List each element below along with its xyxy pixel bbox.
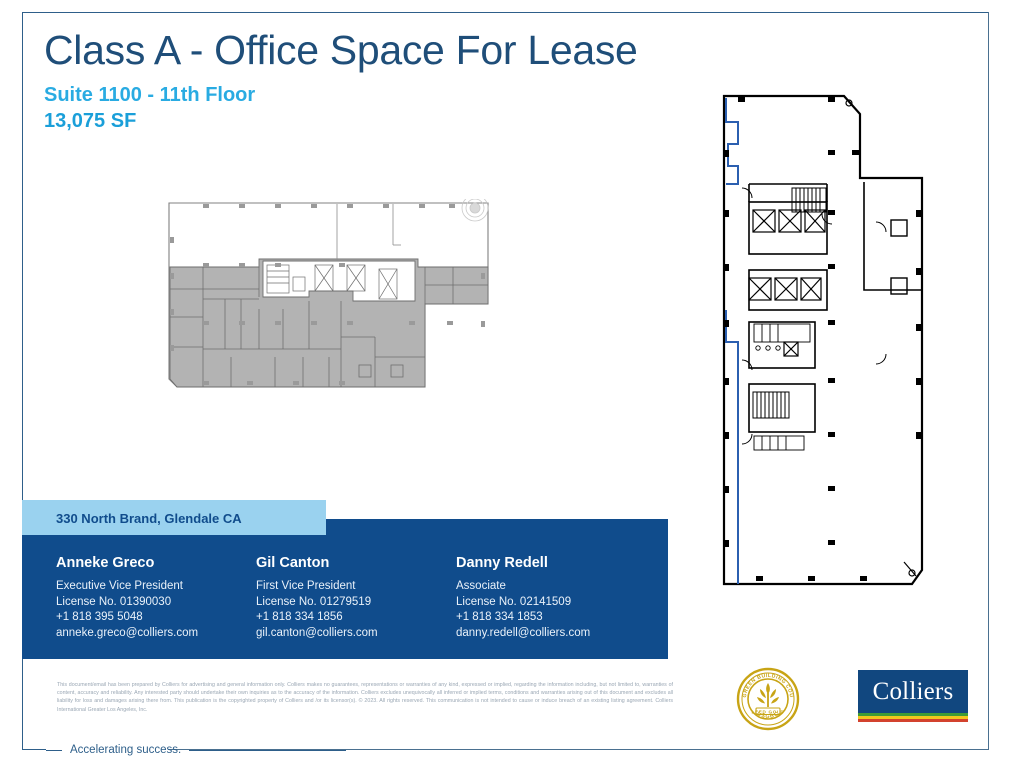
svg-text:U.S. GREEN BUILDING COUNCIL: U.S. GREEN BUILDING COUNCIL	[736, 667, 794, 700]
contact-license: License No. 01390030	[56, 595, 256, 611]
contact-email[interactable]: danny.redell@colliers.com	[456, 626, 656, 642]
broker-contact-list: Anneke Greco Executive Vice President Li…	[56, 554, 656, 642]
colliers-logo: Colliers	[858, 670, 968, 722]
contact-card: Anneke Greco Executive Vice President Li…	[56, 554, 256, 642]
contact-role: Executive Vice President	[56, 579, 256, 595]
contact-license: License No. 01279519	[256, 595, 456, 611]
building-floor-plan	[716, 92, 931, 597]
contact-card: Danny Redell Associate License No. 02141…	[456, 554, 656, 642]
usgbc-leed-gold-seal-icon: U.S. GREEN BUILDING COUNCIL USGBC LEED G…	[736, 667, 800, 731]
suite-subtitle: Suite 1100 - 11th Floor	[44, 82, 638, 108]
property-address: 330 North Brand, Glendale CA	[56, 512, 242, 525]
frame-right-rule	[988, 12, 989, 750]
tagline-rule-left	[46, 750, 62, 751]
contact-email[interactable]: anneke.greco@colliers.com	[56, 626, 256, 642]
contact-name: Gil Canton	[256, 554, 456, 572]
frame-bottom-left-stub	[22, 749, 46, 750]
contact-license: License No. 02141509	[456, 595, 656, 611]
contact-name: Anneke Greco	[56, 554, 256, 572]
tagline-rule-right	[189, 750, 346, 751]
suite-floor-plan	[163, 199, 494, 391]
contact-role: First Vice President	[256, 579, 456, 595]
tagline-block: Accelerating success.	[46, 743, 346, 757]
colliers-logo-box: Colliers	[858, 670, 968, 713]
page-title: Class A - Office Space For Lease	[44, 26, 638, 75]
contact-phone[interactable]: +1 818 395 5048	[56, 610, 256, 626]
contact-name: Danny Redell	[456, 554, 656, 572]
colliers-wordmark: Colliers	[873, 679, 954, 704]
header-block: Class A - Office Space For Lease Suite 1…	[44, 26, 638, 134]
frame-top-rule	[22, 12, 989, 13]
contact-phone[interactable]: +1 818 334 1856	[256, 610, 456, 626]
logo-stripe-red	[858, 719, 968, 722]
contact-phone[interactable]: +1 818 334 1853	[456, 610, 656, 626]
lease-flyer-page: Class A - Office Space For Lease Suite 1…	[0, 0, 1015, 760]
square-footage: 13,075 SF	[44, 108, 638, 134]
tagline-text: Accelerating success.	[70, 744, 181, 756]
contact-email[interactable]: gil.canton@colliers.com	[256, 626, 456, 642]
contact-card: Gil Canton First Vice President License …	[256, 554, 456, 642]
legal-disclaimer: This document/email has been prepared by…	[57, 681, 673, 714]
contact-role: Associate	[456, 579, 656, 595]
svg-text:LEED GOLD: LEED GOLD	[751, 709, 784, 714]
